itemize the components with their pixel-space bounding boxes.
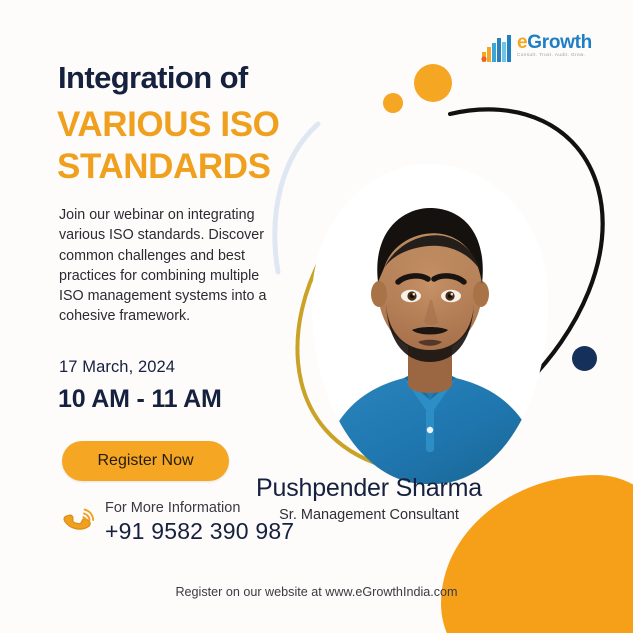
webinar-time: 10 AM - 11 AM	[58, 385, 222, 414]
logo-tagline: Consult. Trust. Audit. Grow.	[517, 53, 592, 58]
logo-bars-icon	[481, 33, 515, 63]
egrowth-logo[interactable]: eGrowth Consult. Trust. Audit. Grow.	[481, 33, 597, 69]
headline-line-2: STANDARDS	[57, 146, 280, 188]
page-title: VARIOUS ISO STANDARDS	[57, 104, 280, 187]
speaker-portrait-illustration	[312, 164, 548, 484]
speaker-name: Pushpender Sharma	[0, 474, 633, 503]
headline-kicker: Integration of	[58, 62, 248, 93]
logo-wordmark: eGrowth	[517, 33, 592, 52]
orange-circle-small-decoration	[383, 93, 403, 113]
headline-line-1: VARIOUS ISO	[57, 104, 280, 146]
orange-circle-large-decoration	[414, 64, 452, 102]
footer-website-note: Register on our website at www.eGrowthIn…	[0, 585, 633, 599]
logo-wordmark-prefix: e	[517, 32, 527, 53]
speaker-photo	[312, 164, 548, 484]
webinar-poster: eGrowth Consult. Trust. Audit. Grow. Int…	[0, 0, 633, 633]
webinar-date: 17 March, 2024	[59, 358, 175, 377]
logo-wordmark-rest: Growth	[527, 32, 592, 53]
webinar-description: Join our webinar on integrating various …	[59, 205, 284, 327]
speaker-role: Sr. Management Consultant	[0, 507, 633, 523]
navy-circle-decoration	[572, 346, 597, 371]
